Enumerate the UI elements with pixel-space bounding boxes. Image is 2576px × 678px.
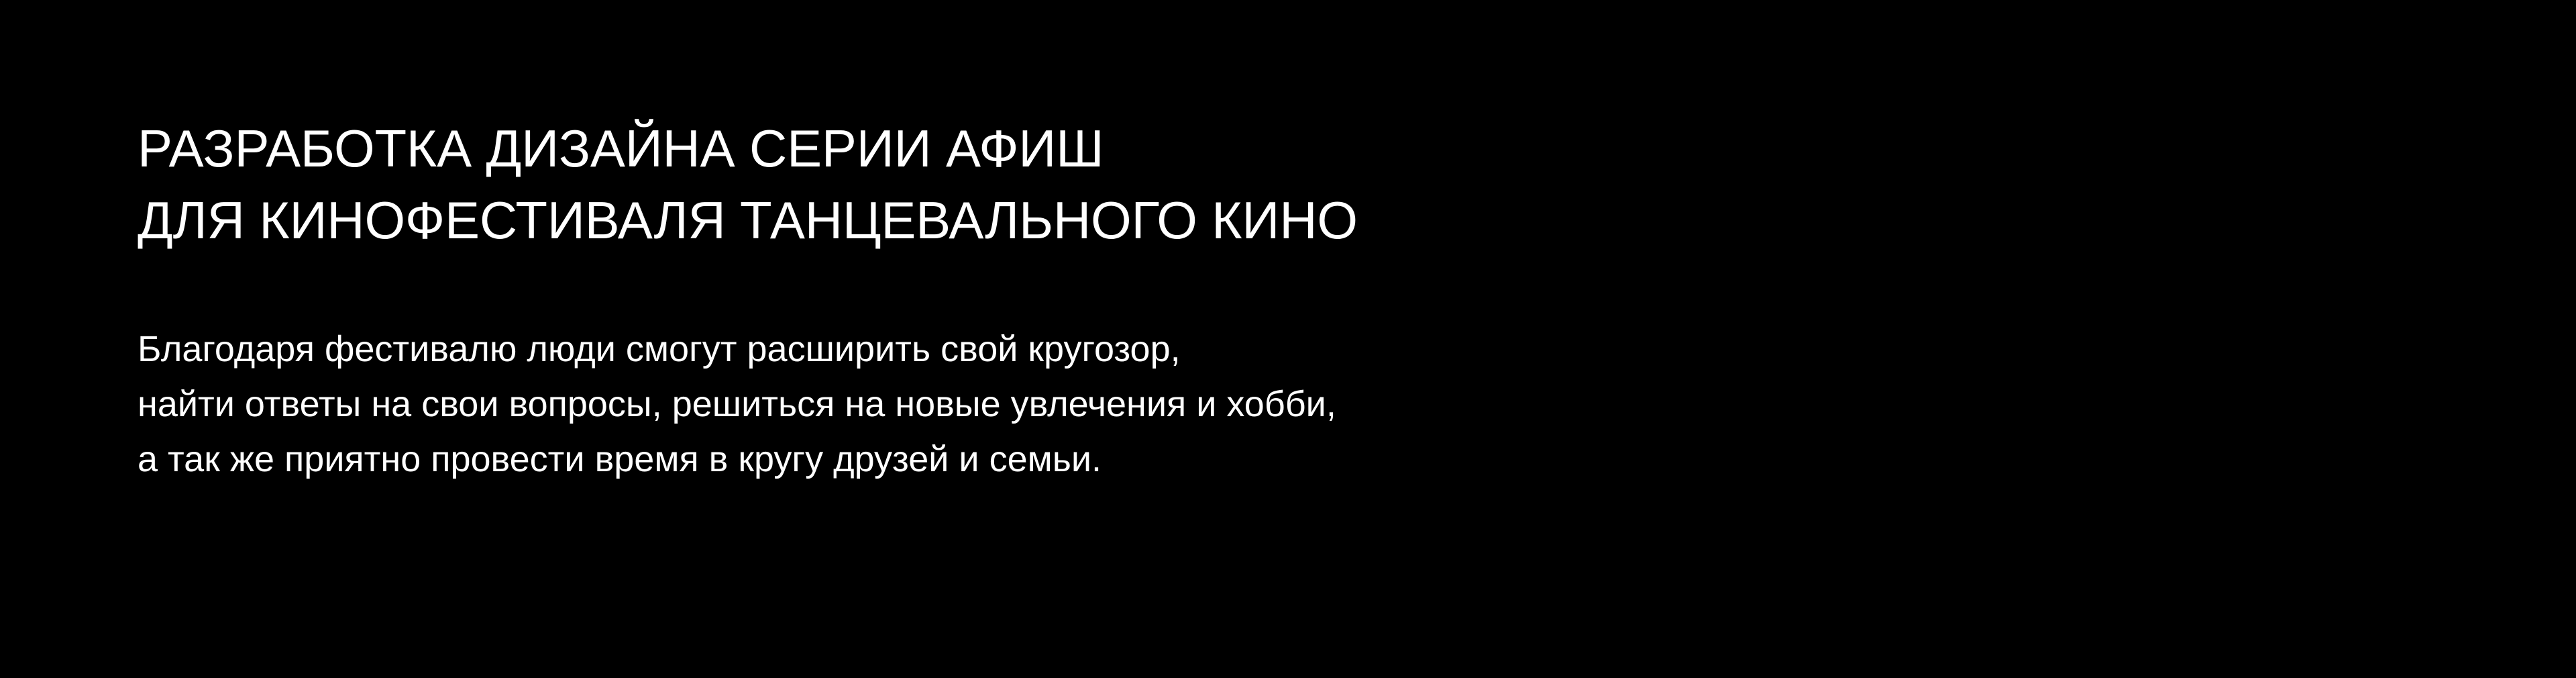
presentation-slide: РАЗРАБОТКА ДИЗАЙНА СЕРИИ АФИШ ДЛЯ КИНОФЕ… <box>0 0 2576 678</box>
text-content-block: РАЗРАБОТКА ДИЗАЙНА СЕРИИ АФИШ ДЛЯ КИНОФЕ… <box>138 0 2432 487</box>
body-line-2: найти ответы на свои вопросы, решиться н… <box>138 377 2432 432</box>
description-paragraph: Благодаря фестивалю люди смогут расширит… <box>138 256 2432 487</box>
page-title: РАЗРАБОТКА ДИЗАЙНА СЕРИИ АФИШ ДЛЯ КИНОФЕ… <box>138 0 2432 256</box>
headline-line-1: РАЗРАБОТКА ДИЗАЙНА СЕРИИ АФИШ <box>138 113 2432 185</box>
body-line-3: а так же приятно провести время в кругу … <box>138 432 2432 487</box>
body-line-1: Благодаря фестивалю люди смогут расширит… <box>138 322 2432 377</box>
headline-line-2: ДЛЯ КИНОФЕСТИВАЛЯ ТАНЦЕВАЛЬНОГО КИНО <box>138 185 2432 256</box>
